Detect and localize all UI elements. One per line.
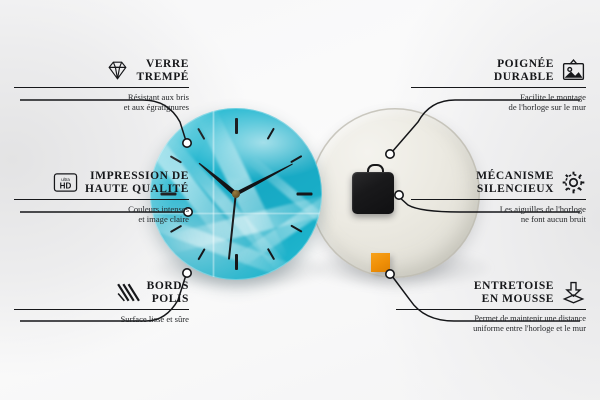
callout-rule: [14, 309, 189, 311]
callout-rule: [411, 199, 586, 201]
callout-desc-line1: Couleurs intenses: [128, 204, 189, 214]
callout-impression-haute-qualite: ultra HD IMPRESSION DE HAUTE QUALITÉ Cou…: [14, 170, 189, 225]
callout-rule: [14, 199, 189, 201]
callout-title-line2: SILENCIEUX: [477, 183, 554, 195]
connector-dot-entretoise: [386, 270, 394, 278]
ultra-hd-bottom-text: HD: [60, 182, 72, 191]
callout-title-line2: EN MOUSSE: [482, 293, 554, 305]
callout-desc-line2: de l'horloge sur le mur: [509, 102, 586, 112]
connector-dot-bords: [183, 269, 191, 277]
callout-desc-line1: Facilite le montage: [520, 92, 586, 102]
callout-title-line1: ENTRETOISE: [474, 280, 554, 292]
callout-desc-line1: Surface lisse et sûre: [121, 314, 190, 324]
hanging-frame-icon: [561, 58, 586, 83]
callout-title-line2: DURABLE: [494, 71, 554, 83]
gear-icon: [561, 170, 586, 195]
callout-title-line1: MÉCANISME: [476, 170, 554, 182]
callout-verre-trempe: VERRE TREMPÉ Résistant aux bris et aux é…: [14, 58, 189, 113]
callout-title-line1: BORDS: [147, 280, 189, 292]
callout-desc-line1: Les aiguilles de l'horloge: [500, 204, 586, 214]
callout-title-line1: IMPRESSION DE: [90, 170, 189, 182]
callout-desc-line2: et aux égratignures: [124, 102, 189, 112]
callout-desc-line2: uniforme entre l'horloge et le mur: [473, 324, 586, 333]
callout-desc-line2: et image claire: [138, 214, 189, 224]
callout-desc-line1: Résistant aux bris: [128, 92, 189, 102]
connector-dot-mecanisme: [395, 191, 403, 199]
callout-title-line1: POIGNÉE: [497, 58, 554, 70]
callout-rule: [14, 87, 189, 89]
callout-entretoise-en-mousse: ENTRETOISE EN MOUSSE Permet de maintenir…: [396, 280, 586, 335]
callout-poignee-durable: POIGNÉE DURABLE Facilite le montage de l…: [411, 58, 586, 113]
callout-desc-line2: ne font aucun bruit: [521, 214, 586, 224]
polished-edges-icon: [115, 280, 140, 305]
callout-title-line2: POLIS: [152, 293, 189, 305]
arrow-down-pad-icon: [561, 280, 586, 305]
callout-title-line2: HAUTE QUALITÉ: [85, 183, 189, 195]
connector-dot-verre: [183, 139, 191, 147]
infographic-canvas: VERRE TREMPÉ Résistant aux bris et aux é…: [0, 0, 600, 400]
callout-title-line2: TREMPÉ: [137, 71, 190, 83]
ultra-hd-icon: ultra HD: [53, 170, 78, 195]
callout-desc-line1: Permet de maintenir une distance: [474, 314, 586, 323]
callout-rule: [396, 309, 586, 311]
callout-title-line1: VERRE: [146, 58, 189, 70]
callout-mecanisme-silencieux: MÉCANISME SILENCIEUX Les aiguilles d: [411, 170, 586, 225]
callout-rule: [411, 87, 586, 89]
connector-dot-poignee: [386, 150, 394, 158]
diamond-icon: [105, 58, 130, 83]
callout-bords-polis: BORDS POLIS Surface lisse et sûre: [14, 280, 189, 324]
